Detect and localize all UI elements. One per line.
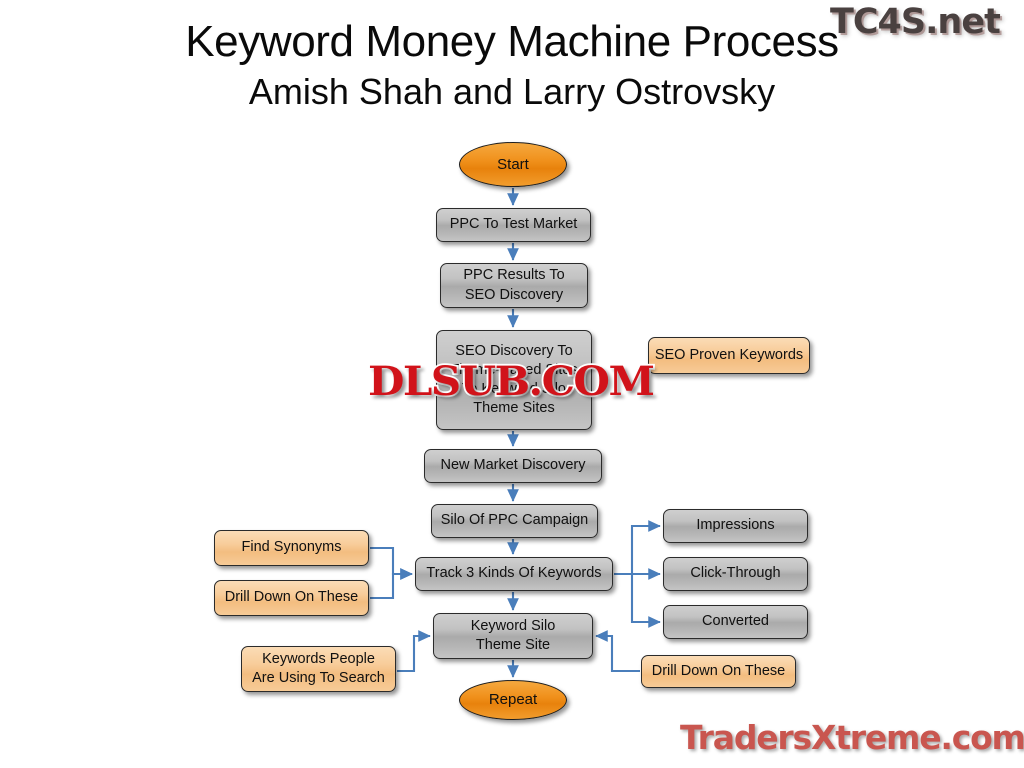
flow-node-label: PPC To Test Market — [450, 215, 578, 234]
flow-node-new-market[interactable]: New Market Discovery — [424, 449, 602, 483]
edge-track3-to-impressions — [614, 526, 660, 574]
flow-node-converted[interactable]: Converted — [663, 605, 808, 639]
flow-node-kw-silo[interactable]: Keyword SiloTheme Site — [433, 613, 593, 659]
flow-node-drill-left[interactable]: Drill Down On These — [214, 580, 369, 616]
flow-node-label: Silo Of PPC Campaign — [441, 511, 588, 530]
flow-node-track3[interactable]: Track 3 Kinds Of Keywords — [415, 557, 613, 591]
flow-node-label: New Market Discovery — [440, 456, 585, 475]
flow-node-seo-proven[interactable]: SEO Proven Keywords — [648, 337, 810, 374]
flow-node-repeat[interactable]: Repeat — [459, 680, 567, 720]
flow-node-label: Find Synonyms — [242, 538, 342, 557]
flow-node-label: Click-Through — [690, 564, 780, 583]
slide-canvas: Keyword Money Machine Process Amish Shah… — [0, 0, 1024, 768]
flow-node-start[interactable]: Start — [459, 142, 567, 187]
flow-node-label: Start — [497, 155, 529, 175]
flow-node-label: Repeat — [489, 690, 537, 710]
flow-node-label: PPC Results ToSEO Discovery — [463, 266, 564, 304]
flow-node-label: Keyword SiloTheme Site — [471, 617, 556, 655]
flow-node-silo-ppc[interactable]: Silo Of PPC Campaign — [431, 504, 598, 538]
flow-node-kw-people[interactable]: Keywords PeopleAre Using To Search — [241, 646, 396, 692]
flow-node-ppc-results[interactable]: PPC Results ToSEO Discovery — [440, 263, 588, 308]
flow-node-label: Drill Down On These — [225, 588, 359, 607]
flow-node-label: Keywords PeopleAre Using To Search — [252, 650, 385, 688]
edge-keywords-people-to-keyword-silo — [397, 636, 430, 671]
flow-node-drill-right[interactable]: Drill Down On These — [641, 655, 796, 688]
flow-node-click-thru[interactable]: Click-Through — [663, 557, 808, 591]
flow-node-label: Converted — [702, 612, 769, 631]
flow-node-ppc-test[interactable]: PPC To Test Market — [436, 208, 591, 242]
edge-drill-left-to-track3 — [370, 574, 412, 598]
edge-find-synonyms-to-track3 — [370, 548, 412, 574]
page-subtitle: Amish Shah and Larry Ostrovsky — [0, 72, 1024, 112]
flow-node-label: Drill Down On These — [652, 662, 786, 681]
watermark-tradersxtreme: TradersXtreme.com — [680, 718, 1024, 757]
flow-node-label: Track 3 Kinds Of Keywords — [426, 564, 601, 583]
flow-node-find-syn[interactable]: Find Synonyms — [214, 530, 369, 566]
watermark-dlsub: DLSUB.COM — [368, 358, 653, 405]
edge-drill-right-to-keyword-silo — [596, 636, 640, 671]
flow-node-label: SEO Proven Keywords — [655, 346, 803, 365]
flow-node-impressions[interactable]: Impressions — [663, 509, 808, 543]
watermark-tc4s: TC4S.net — [830, 2, 1000, 42]
edge-track3-to-converted — [614, 574, 660, 622]
flow-node-label: Impressions — [696, 516, 774, 535]
